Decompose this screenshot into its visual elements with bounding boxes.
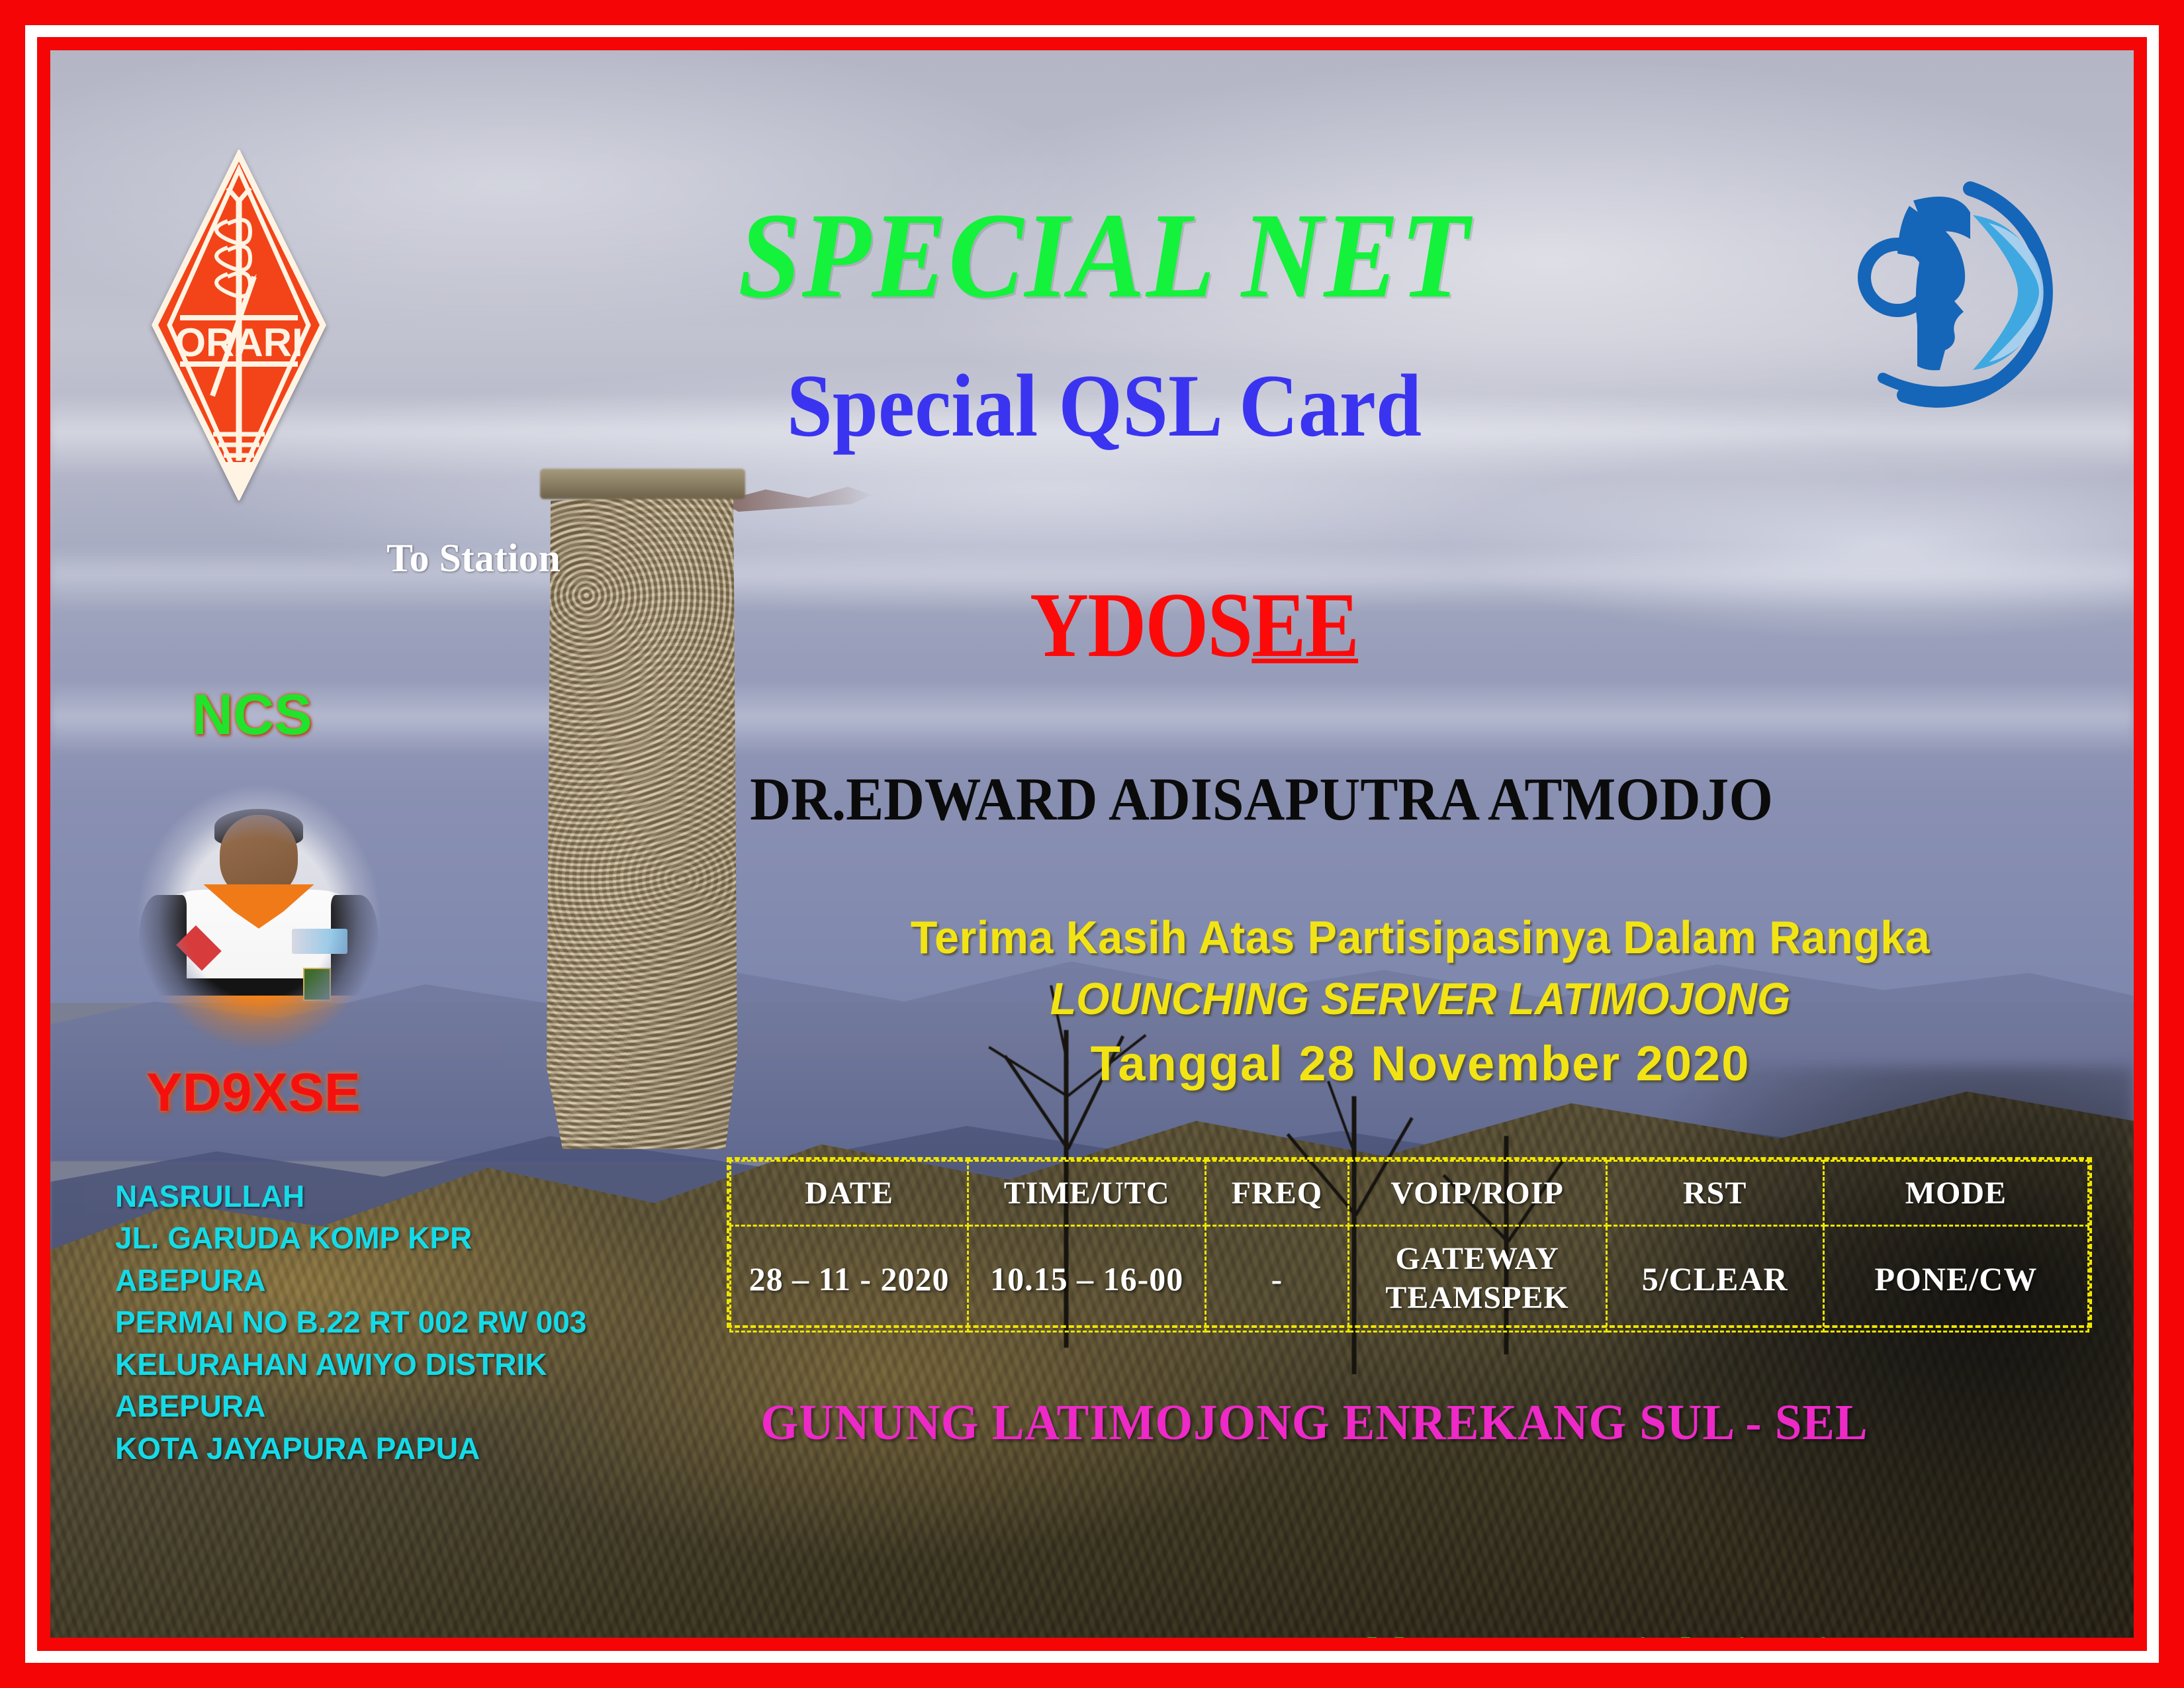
card-content-layer: ORARI <box>50 50 2134 1638</box>
operator-name: DR.EDWARD ADISAPUTRA ATMODJO <box>677 764 1846 834</box>
address-line: JL. GARUDA KOMP KPR <box>115 1217 618 1259</box>
card-inner-red-border: ORARI <box>37 37 2147 1651</box>
ncs-address: NASRULLAH JL. GARUDA KOMP KPR ABEPURA PE… <box>115 1176 618 1470</box>
cell-voip-roip-line1: GATEWAY <box>1349 1240 1606 1279</box>
callsign-prefix: YDOS <box>1030 574 1251 677</box>
cell-rst: 5/CLEAR <box>1606 1226 1823 1332</box>
event-title-line: LOUNCHING SERVER LATIMOJONG <box>773 973 2068 1025</box>
event-block: Terima Kasih Atas Partisipasinya Dalam R… <box>739 911 2102 1092</box>
id-card-tag <box>303 968 331 1001</box>
column-header-time-utc: TIME/UTC <box>968 1161 1206 1226</box>
table-header-row: DATE TIME/UTC FREQ VOIP/ROIP RST MODE <box>731 1161 2089 1226</box>
shirt-patch <box>292 929 347 954</box>
event-date-line: Tanggal 28 November 2020 <box>739 1035 2102 1092</box>
event-thanks-line: Terima Kasih Atas Partisipasinya Dalam R… <box>773 911 2068 964</box>
callsign-suffix: EE <box>1251 574 1358 677</box>
address-line: KOTA JAYAPURA PAPUA <box>115 1428 618 1470</box>
column-header-date: DATE <box>731 1161 968 1226</box>
qso-log-table: DATE TIME/UTC FREQ VOIP/ROIP RST MODE <box>727 1157 2092 1328</box>
cell-voip-roip-line2: TEAMSPEK <box>1349 1279 1606 1318</box>
address-line: ABEPURA <box>115 1385 618 1427</box>
location-line: GUNUNG LATIMOJONG ENREKANG SUL - SEL <box>711 1394 1918 1452</box>
column-header-rst: RST <box>1606 1161 1823 1226</box>
cell-freq: - <box>1206 1226 1348 1332</box>
cell-date: 28 – 11 - 2020 <box>731 1226 968 1332</box>
card-white-border: ORARI <box>25 25 2159 1663</box>
cell-voip-roip: GATEWAY TEAMSPEK <box>1348 1226 1606 1332</box>
column-header-mode: MODE <box>1823 1161 2088 1226</box>
address-line: NASRULLAH <box>115 1176 618 1217</box>
station-callsign: YDOSEE <box>1030 572 1358 679</box>
card-photo-background: ORARI <box>50 50 2134 1638</box>
table-row: 28 – 11 - 2020 10.15 – 16-00 - GATEWAY T… <box>731 1226 2089 1332</box>
page-title: SPECIAL NET <box>134 195 2050 317</box>
footer-web-address: Address : amatir.latimojong.com <box>1318 1627 2006 1638</box>
column-header-freq: FREQ <box>1206 1161 1348 1226</box>
ncs-label: NCS <box>192 682 312 748</box>
address-line: KELURAHAN AWIYO DISTRIK <box>115 1344 618 1385</box>
qsl-card: ORARI <box>0 0 2184 1688</box>
uniform-lower <box>156 996 362 1056</box>
ncs-callsign: YD9XSE <box>146 1062 361 1124</box>
page-subtitle: Special QSL Card <box>134 361 2050 451</box>
cell-mode: PONE/CW <box>1823 1226 2088 1332</box>
operator-photo-vignette <box>120 778 398 1056</box>
cell-time-utc: 10.15 – 16-00 <box>968 1226 1206 1332</box>
to-station-label: To Station <box>387 536 561 581</box>
operator-photo <box>120 778 398 1056</box>
footer-slogan: "AMATIR RADIO ADALAH PROGRESIVE" <box>126 1627 1090 1638</box>
address-line: PERMAI NO B.22 RT 002 RW 003 <box>115 1301 618 1343</box>
column-header-voip-roip: VOIP/ROIP <box>1348 1161 1606 1226</box>
svg-text:ORARI: ORARI <box>175 320 302 365</box>
address-line: ABEPURA <box>115 1260 618 1301</box>
